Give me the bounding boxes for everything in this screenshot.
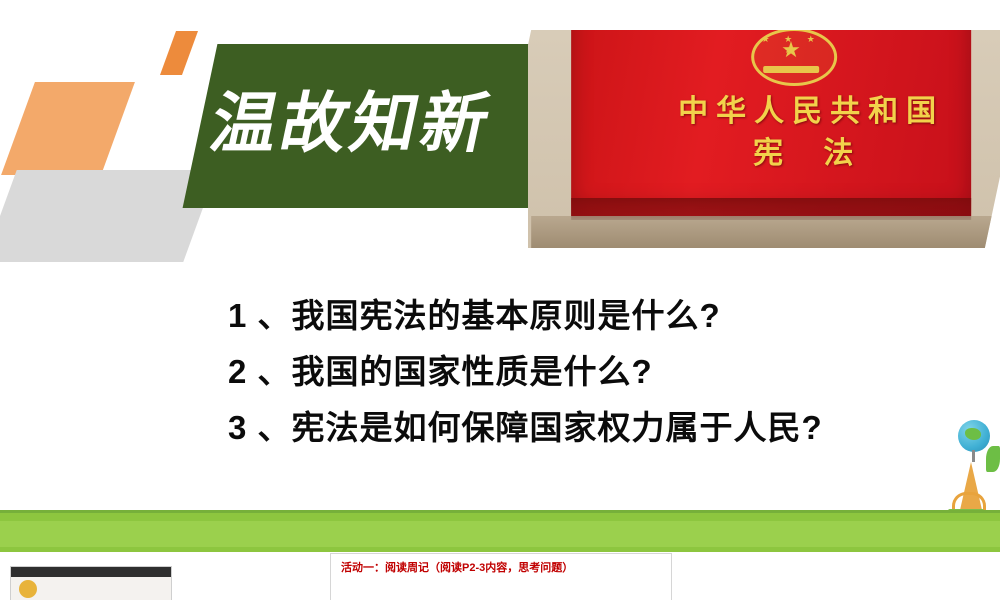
- decor-orange-small-parallelogram: [160, 31, 198, 75]
- preview-thumbnail-center[interactable]: 活动一：阅读周记（阅读P2-3内容，思考问题）: [330, 553, 672, 600]
- footer-green-bar-inner: [0, 521, 1000, 547]
- page-title: 温故知新: [203, 82, 620, 164]
- globe-stand: [972, 450, 975, 462]
- question-item-2: 2 、我国的国家性质是什么?: [228, 344, 928, 400]
- footer-green-bar: [0, 510, 1000, 555]
- emblem-gate-bar: [763, 66, 819, 73]
- header-band: ★ ★ ★ ★ ★ 中华人民共和国 宪 法 温故知新: [0, 0, 1000, 262]
- preview-center-text: 活动一：阅读周记（阅读P2-3内容，思考问题）: [341, 560, 641, 576]
- decor-gray-parallelogram: [0, 170, 217, 262]
- national-emblem-icon: ★ ★ ★ ★ ★: [743, 30, 839, 84]
- preview-thumbnail-left-header: [11, 567, 171, 577]
- question-list: 1 、我国宪法的基本原则是什么? 2 、我国的国家性质是什么? 3 、宪法是如何…: [228, 288, 928, 456]
- preview-thumbnail-left-badge: [19, 580, 37, 598]
- question-item-3: 3 、宪法是如何保障国家权力属于人民?: [228, 400, 868, 456]
- decor-orange-large-parallelogram: [1, 82, 135, 175]
- preview-thumbnail-left[interactable]: [10, 566, 172, 600]
- cover-title-line-1: 中华人民共和国: [631, 86, 991, 130]
- cover-title-line-2: 宪 法: [631, 128, 991, 172]
- globe-landmass: [965, 428, 981, 440]
- photo-table-surface: [531, 216, 1000, 248]
- slide-canvas: ★ ★ ★ ★ ★ 中华人民共和国 宪 法 温故知新 1 、我国宪法的基本原则是…: [0, 0, 1000, 600]
- cover-shadow: [571, 198, 971, 220]
- question-item-1: 1 、我国宪法的基本原则是什么?: [228, 288, 928, 344]
- constitution-book-cover: ★ ★ ★ ★ ★ 中华人民共和国 宪 法: [571, 30, 971, 216]
